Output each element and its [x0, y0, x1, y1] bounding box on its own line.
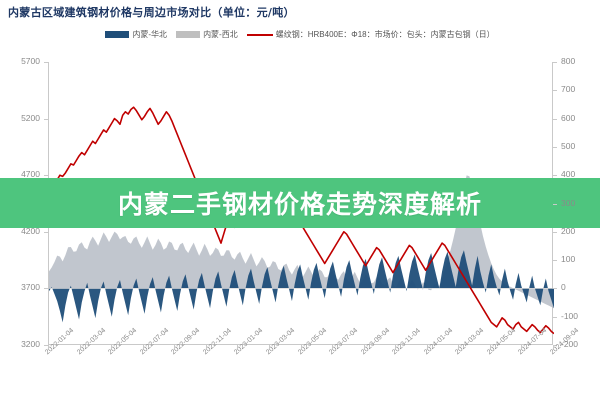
y-axis-right-tick: 800: [561, 56, 575, 66]
overlay-banner: 内蒙二手钢材价格走势深度解析: [0, 178, 600, 228]
legend-swatch-navy: [105, 31, 129, 38]
x-axis-tickmark: [143, 345, 144, 349]
y-axis-left-tick: 5700: [2, 56, 40, 66]
y-axis-right-tickmark: [553, 317, 557, 318]
legend-label-luowengang: 螺纹钢：HRB400E：Φ18：市场价：包头：内蒙古包钢（日）: [276, 29, 495, 40]
x-axis-tickmark: [458, 345, 459, 349]
y-axis-left-tick: 5200: [2, 113, 40, 123]
legend-item-neimeng-huabei: 内蒙-华北: [105, 29, 167, 40]
y-axis-right-tick: 500: [561, 141, 575, 151]
chart-title: 内蒙古区域建筑钢材价格与周边市场对比（单位：元/吨）: [8, 4, 295, 20]
y-axis-right-tick: 100: [561, 254, 575, 264]
legend-item-luowengang: 螺纹钢：HRB400E：Φ18：市场价：包头：内蒙古包钢（日）: [247, 29, 495, 40]
x-axis-tickmark: [521, 345, 522, 349]
y-axis-right-tickmark: [553, 175, 557, 176]
screenshot-root: 内蒙古区域建筑钢材价格与周边市场对比（单位：元/吨） 内蒙-华北 内蒙-西北 螺…: [0, 0, 600, 400]
y-axis-right-tick: 400: [561, 169, 575, 179]
overlay-banner-text: 内蒙二手钢材价格走势深度解析: [118, 185, 482, 221]
y-axis-right-tickmark: [553, 147, 557, 148]
y-axis-left-tick: 4200: [2, 226, 40, 236]
y-axis-right-tickmark: [553, 260, 557, 261]
y-axis-left-tick: 4700: [2, 169, 40, 179]
y-axis-right-tickmark: [553, 90, 557, 91]
x-axis-tickmark: [553, 345, 554, 349]
chart-legend: 内蒙-华北 内蒙-西北 螺纹钢：HRB400E：Φ18：市场价：包头：内蒙古包钢…: [0, 29, 600, 40]
y-axis-right-tick: 200: [561, 226, 575, 236]
x-axis-tickmark: [490, 345, 491, 349]
x-axis-tickmark: [269, 345, 270, 349]
x-axis-tickmark: [80, 345, 81, 349]
y-axis-left-tick: 3200: [2, 339, 40, 349]
x-axis-tickmark: [174, 345, 175, 349]
x-axis-tickmark: [395, 345, 396, 349]
x-axis-tickmark: [364, 345, 365, 349]
x-axis-tickmark: [206, 345, 207, 349]
y-axis-left-tick: 3700: [2, 282, 40, 292]
y-axis-right-tick: 0: [561, 282, 566, 292]
x-axis-tickmark: [111, 345, 112, 349]
y-axis-right-tickmark: [553, 62, 557, 63]
legend-label-neimeng-huabei: 内蒙-华北: [132, 29, 167, 40]
legend-swatch-gray: [176, 31, 200, 38]
y-axis-right-tick: 600: [561, 113, 575, 123]
y-axis-left-tickmark: [44, 232, 48, 233]
y-axis-right-tickmark: [553, 119, 557, 120]
y-axis-right-tickmark: [553, 232, 557, 233]
x-axis-tickmark: [237, 345, 238, 349]
legend-item-neimeng-xibei: 内蒙-西北: [176, 29, 238, 40]
legend-swatch-red-line: [247, 34, 273, 36]
x-axis-tickmark: [332, 345, 333, 349]
y-axis-right-tick: 700: [561, 84, 575, 94]
x-axis-tickmark: [427, 345, 428, 349]
y-axis-right-tick: 300: [561, 198, 575, 208]
y-axis-left-tickmark: [44, 119, 48, 120]
y-axis-left-tickmark: [44, 288, 48, 289]
y-axis-right-tickmark: [553, 204, 557, 205]
y-axis-right-tickmark: [553, 288, 557, 289]
x-axis-tickmark: [301, 345, 302, 349]
y-axis-right-tick: -100: [561, 311, 578, 321]
y-axis-left-tickmark: [44, 175, 48, 176]
legend-label-neimeng-xibei: 内蒙-西北: [203, 29, 238, 40]
x-axis-tickmark: [48, 345, 49, 349]
y-axis-left-tickmark: [44, 62, 48, 63]
